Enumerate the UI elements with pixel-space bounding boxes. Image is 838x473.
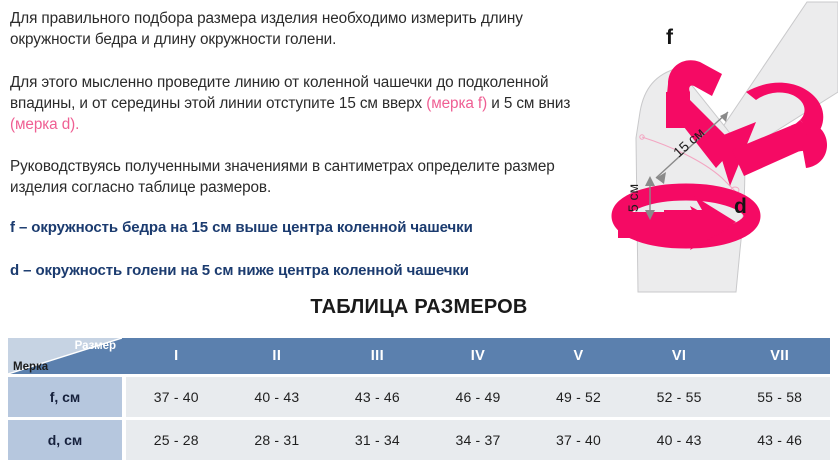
size-table-title: ТАБЛИЦА РАЗМЕРОВ (0, 296, 838, 319)
cell-d-7: 43 - 46 (729, 420, 830, 460)
cell-f-2: 40 - 43 (227, 377, 328, 417)
leg-measurement-diagram: 15 см 5 см f d (594, 0, 838, 296)
measure-f-note: (мерка f) (426, 95, 487, 112)
table-corner-cell: Размер Мерка (8, 338, 122, 374)
instruction-paragraph-2: Для этого мысленно проведите линию от ко… (10, 72, 590, 135)
table-header-row: Размер Мерка I II III IV V VI VII (8, 338, 830, 374)
column-header-7: VII (729, 338, 830, 374)
column-header-3: III (327, 338, 428, 374)
column-header-4: IV (428, 338, 529, 374)
cell-f-1: 37 - 40 (126, 377, 227, 417)
leg-illustration-svg: 15 см 5 см (594, 0, 838, 296)
cell-d-5: 37 - 40 (528, 420, 629, 460)
cell-d-4: 34 - 37 (428, 420, 529, 460)
cell-f-4: 46 - 49 (428, 377, 529, 417)
column-header-6: VI (629, 338, 730, 374)
table-row: d, см 25 - 28 28 - 31 31 - 34 34 - 37 37… (8, 420, 830, 460)
definition-f: f – окружность бедра на 15 см выше центр… (10, 217, 590, 238)
diagram-label-d: d (734, 195, 747, 219)
definition-d: d – окружность голени на 5 см ниже центр… (10, 260, 590, 281)
cell-f-6: 52 - 55 (629, 377, 730, 417)
cell-d-2: 28 - 31 (227, 420, 328, 460)
cell-d-6: 40 - 43 (629, 420, 730, 460)
cell-d-3: 31 - 34 (327, 420, 428, 460)
column-header-1: I (126, 338, 227, 374)
instructions-text-column: Для правильного подбора размера изделия … (10, 8, 590, 303)
instruction-paragraph-1: Для правильного подбора размера изделия … (10, 8, 590, 50)
corner-measure-label: Мерка (13, 361, 48, 373)
cell-d-1: 25 - 28 (126, 420, 227, 460)
column-header-2: II (227, 338, 328, 374)
cell-f-5: 49 - 52 (528, 377, 629, 417)
size-table: Размер Мерка I II III IV V VI VII f, см … (8, 338, 830, 460)
corner-size-label: Размер (75, 340, 116, 352)
measure-d-note: (мерка d). (10, 116, 79, 133)
paragraph-2-text-b: и 5 см вниз (487, 95, 570, 112)
cell-f-3: 43 - 46 (327, 377, 428, 417)
cell-f-7: 55 - 58 (729, 377, 830, 417)
row-label-f: f, см (8, 377, 122, 417)
dimension-5cm-label: 5 см (625, 184, 641, 212)
diagram-label-f: f (666, 26, 673, 50)
column-header-5: V (528, 338, 629, 374)
instruction-paragraph-3: Руководствуясь полученными значениями в … (10, 156, 590, 198)
table-row: f, см 37 - 40 40 - 43 43 - 46 46 - 49 49… (8, 377, 830, 417)
row-label-d: d, см (8, 420, 122, 460)
